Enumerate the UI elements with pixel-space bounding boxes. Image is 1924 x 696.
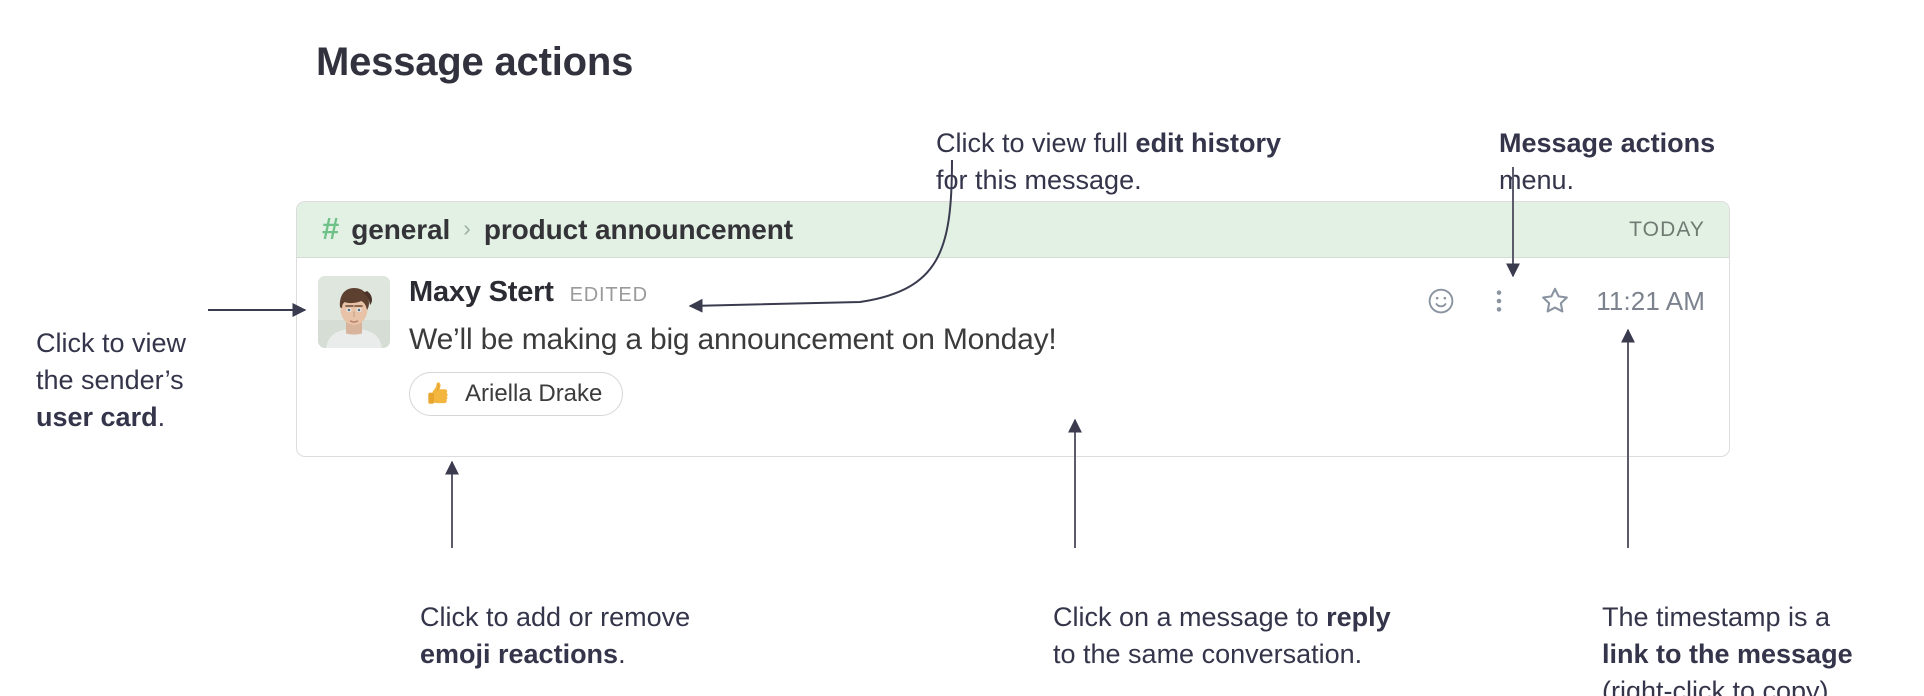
sender-name[interactable]: Maxy Stert: [409, 276, 554, 309]
reaction-pill[interactable]: Ariella Drake: [409, 372, 623, 416]
annotation-emoji-reactions: Click to add or remove emoji reactions.: [420, 562, 780, 673]
annotation-reply-before: Click on a message to: [1053, 602, 1326, 632]
emoji-reaction-icon[interactable]: [1424, 284, 1458, 318]
annotation-timestamp: The timestamp is a link to the message (…: [1602, 562, 1922, 696]
message-actions-menu-icon[interactable]: [1482, 284, 1516, 318]
annotation-emoji-before: Click to add or remove: [420, 602, 690, 632]
card-header: # general › product announcement TODAY: [297, 202, 1729, 258]
annotation-user-card-after: .: [158, 402, 166, 432]
topic-name[interactable]: product announcement: [484, 214, 793, 246]
annotation-actions-menu-bold: Message actions: [1499, 128, 1715, 158]
edited-badge[interactable]: EDITED: [570, 284, 648, 307]
stream-name[interactable]: general: [351, 214, 450, 246]
avatar[interactable]: [318, 276, 390, 348]
message-card: # general › product announcement TODAY: [296, 201, 1730, 457]
annotation-user-card-before: Click to view the sender’s: [36, 328, 186, 395]
annotation-timestamp-before: The timestamp is a: [1602, 602, 1830, 632]
reaction-list: Ariella Drake: [409, 372, 1705, 416]
message-action-icons: 11:21 AM: [1424, 284, 1705, 318]
star-icon[interactable]: [1538, 284, 1572, 318]
annotation-emoji-bold: emoji reactions: [420, 639, 618, 669]
annotation-actions-menu: Message actions menu.: [1499, 88, 1799, 199]
annotation-edit-history-before: Click to view full: [936, 128, 1136, 158]
screenshot-canvas: Message actions # general › product anno…: [0, 0, 1924, 696]
annotation-timestamp-bold: link to the message: [1602, 639, 1853, 669]
annotation-actions-menu-after: menu.: [1499, 165, 1574, 195]
annotation-edit-history: Click to view full edit history for this…: [936, 88, 1356, 199]
message-timestamp[interactable]: 11:21 AM: [1596, 286, 1705, 317]
annotation-reply: Click on a message to reply to the same …: [1053, 562, 1453, 673]
annotation-user-card-bold: user card: [36, 402, 158, 432]
annotation-user-card: Click to view the sender’s user card.: [36, 288, 266, 436]
annotation-edit-history-bold: edit history: [1136, 128, 1282, 158]
date-label: TODAY: [1629, 218, 1705, 242]
thumbs-up-emoji: [424, 379, 454, 409]
reaction-user-name: Ariella Drake: [465, 380, 602, 408]
annotation-reply-bold: reply: [1326, 602, 1391, 632]
hash-icon: #: [322, 213, 339, 244]
annotation-emoji-after: .: [618, 639, 626, 669]
annotation-edit-history-after: for this message.: [936, 165, 1142, 195]
page-title: Message actions: [316, 40, 633, 85]
message-text[interactable]: We’ll be making a big announcement on Mo…: [409, 321, 1705, 359]
breadcrumb-separator-icon: ›: [463, 215, 471, 242]
message-row[interactable]: Maxy Stert EDITED We’ll be making a big …: [297, 258, 1729, 416]
annotation-timestamp-after: (right-click to copy).: [1602, 676, 1836, 696]
annotation-reply-after: to the same conversation.: [1053, 639, 1362, 669]
